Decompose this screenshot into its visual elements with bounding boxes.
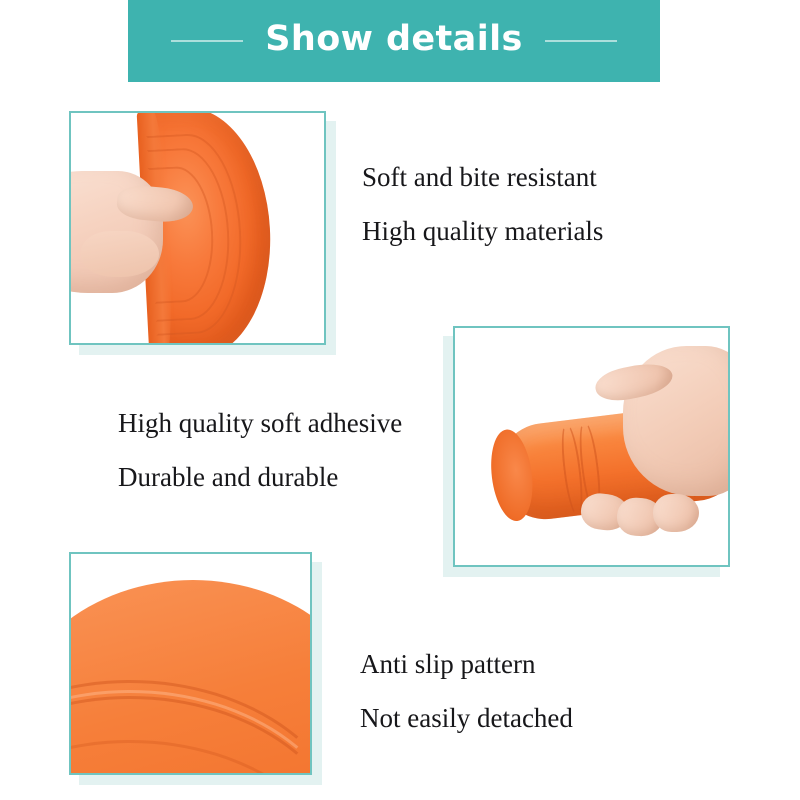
product-photo-grooves xyxy=(69,552,312,775)
product-photo-roll xyxy=(453,326,730,567)
caption-adhesive-line2: Durable and durable xyxy=(118,450,402,504)
product-photo-flex xyxy=(69,111,326,345)
photo-grooves-image xyxy=(71,554,310,773)
caption-antislip-line1: Anti slip pattern xyxy=(360,637,573,691)
product-detail-page: Show details Soft and bite resistant Hig… xyxy=(0,0,800,800)
finger-shape xyxy=(653,494,699,532)
caption-material-line2: High quality materials xyxy=(362,204,603,258)
rolled-disc-end-cap xyxy=(486,427,537,523)
banner-left-rule-icon xyxy=(171,40,243,42)
caption-antislip-line2: Not easily detached xyxy=(360,691,573,745)
disc-surface-shape xyxy=(71,580,310,773)
caption-material: Soft and bite resistant High quality mat… xyxy=(362,150,603,258)
hand-knuckles-shape xyxy=(81,231,159,277)
banner-right-rule-icon xyxy=(545,40,617,42)
photo-flex-image xyxy=(71,113,324,343)
photo-roll-image xyxy=(455,328,728,565)
caption-antislip: Anti slip pattern Not easily detached xyxy=(360,637,573,745)
caption-material-line1: Soft and bite resistant xyxy=(362,150,603,204)
page-title: Show details xyxy=(265,22,522,60)
section-header-banner: Show details xyxy=(128,0,660,82)
caption-adhesive: High quality soft adhesive Durable and d… xyxy=(118,396,402,504)
caption-adhesive-line1: High quality soft adhesive xyxy=(118,396,402,450)
